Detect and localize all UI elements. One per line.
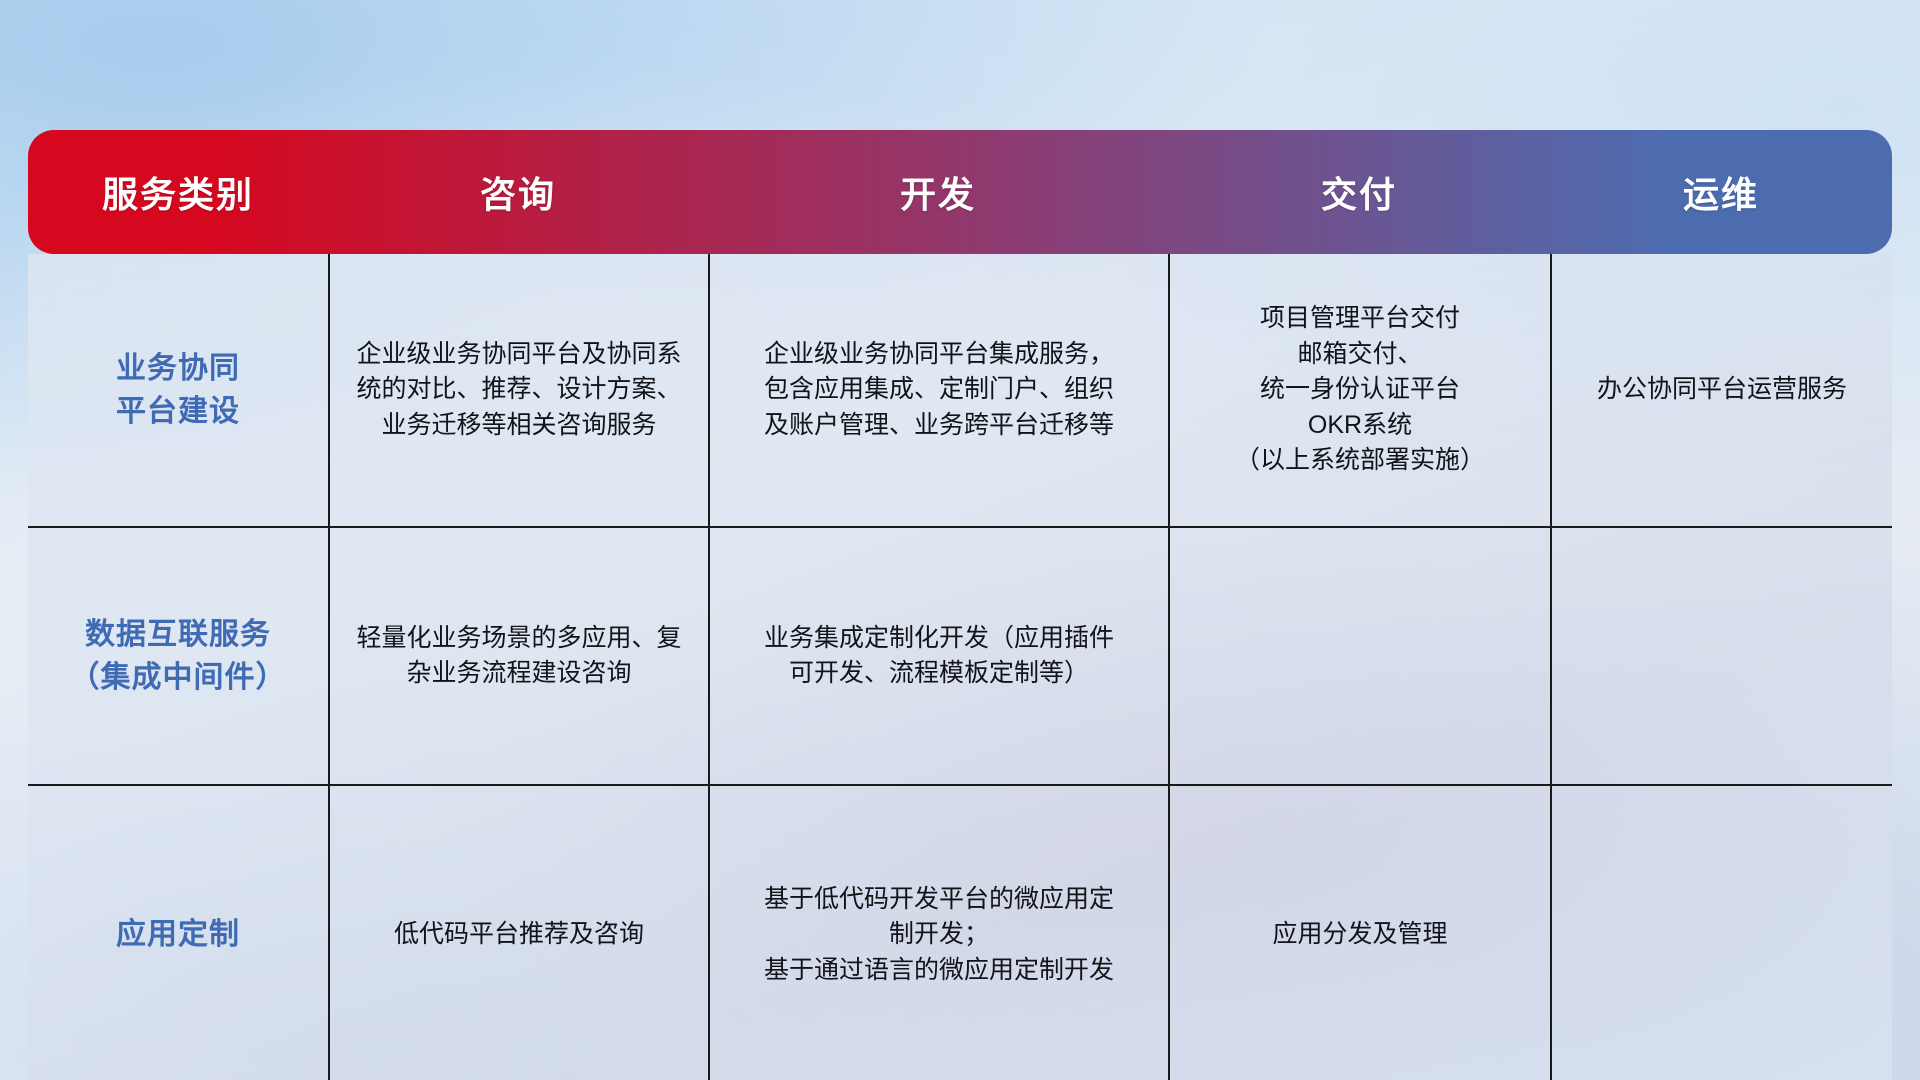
service-category-table: 服务类别 咨询 开发 交付 运维 业务协同 平台建设 企业级业务协同平台及协同系… xyxy=(28,130,1892,960)
column-header-operations: 运维 xyxy=(1550,166,1892,218)
column-header-consulting: 咨询 xyxy=(328,166,708,218)
row-category-label: 应用定制 xyxy=(28,786,328,1080)
cell-consulting: 低代码平台推荐及咨询 xyxy=(328,786,708,1080)
cell-delivery xyxy=(1168,528,1550,784)
table-body: 业务协同 平台建设 企业级业务协同平台及协同系 统的对比、推荐、设计方案、 业务… xyxy=(28,254,1892,1080)
cell-consulting: 企业级业务协同平台及协同系 统的对比、推荐、设计方案、 业务迁移等相关咨询服务 xyxy=(328,254,708,526)
table-row: 业务协同 平台建设 企业级业务协同平台及协同系 统的对比、推荐、设计方案、 业务… xyxy=(28,254,1892,526)
row-category-label: 业务协同 平台建设 xyxy=(28,254,328,526)
cell-delivery: 项目管理平台交付 邮箱交付、 统一身份认证平台 OKR系统 （以上系统部署实施） xyxy=(1168,254,1550,526)
cell-delivery: 应用分发及管理 xyxy=(1168,786,1550,1080)
column-header-delivery: 交付 xyxy=(1168,166,1550,218)
cell-development: 基于低代码开发平台的微应用定 制开发； 基于通过语言的微应用定制开发 xyxy=(708,786,1168,1080)
row-category-label: 数据互联服务 （集成中间件） xyxy=(28,528,328,784)
cell-development: 业务集成定制化开发（应用插件 可开发、流程模板定制等） xyxy=(708,528,1168,784)
table-header-row: 服务类别 咨询 开发 交付 运维 xyxy=(28,130,1892,254)
table-row: 应用定制 低代码平台推荐及咨询 基于低代码开发平台的微应用定 制开发； 基于通过… xyxy=(28,784,1892,1080)
column-header-development: 开发 xyxy=(708,166,1168,218)
cell-operations: 办公协同平台运营服务 xyxy=(1550,254,1892,526)
column-header-category: 服务类别 xyxy=(28,166,328,218)
cell-operations xyxy=(1550,528,1892,784)
cell-consulting: 轻量化业务场景的多应用、复 杂业务流程建设咨询 xyxy=(328,528,708,784)
table-row: 数据互联服务 （集成中间件） 轻量化业务场景的多应用、复 杂业务流程建设咨询 业… xyxy=(28,526,1892,784)
cell-operations xyxy=(1550,786,1892,1080)
cell-development: 企业级业务协同平台集成服务， 包含应用集成、定制门户、组织 及账户管理、业务跨平… xyxy=(708,254,1168,526)
